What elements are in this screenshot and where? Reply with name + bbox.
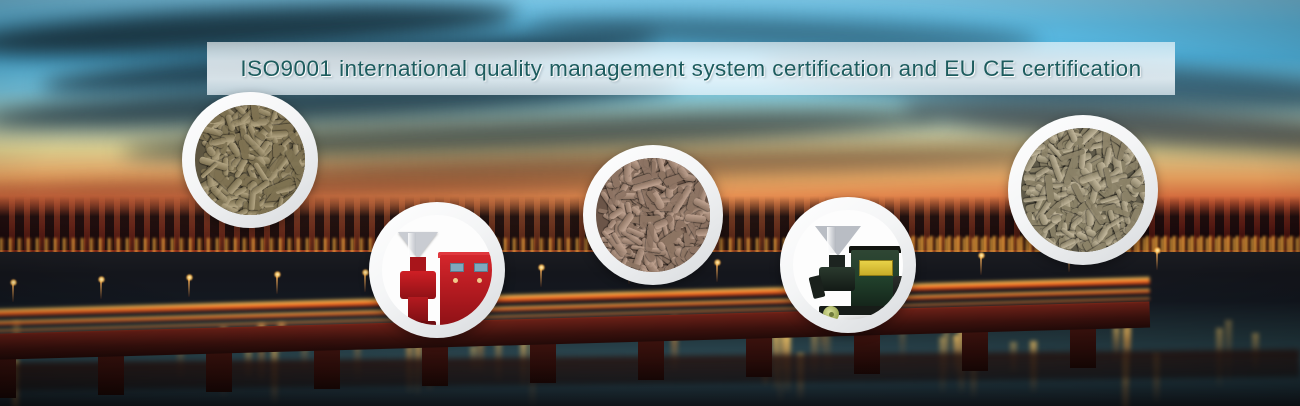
pelletizing-head: [819, 267, 855, 291]
wood-pellet: [300, 210, 305, 215]
product-image: [1021, 128, 1145, 252]
product-image: [596, 158, 710, 272]
mill-body: [400, 271, 436, 299]
hopper-highlight: [827, 227, 836, 253]
product-circle-wood-pellets-closeup-1[interactable]: [182, 92, 318, 228]
product-image: [793, 210, 903, 320]
hopper-highlight: [408, 233, 416, 255]
wheel-hub: [829, 312, 834, 317]
product-circle-green-flat-die-pellet-mill[interactable]: [780, 197, 916, 333]
wood-pellet: [696, 228, 710, 236]
pellet-texture: [195, 105, 305, 215]
feed-hopper: [815, 226, 861, 256]
cabinet-gauge: [450, 263, 464, 272]
mill-stand: [408, 297, 428, 323]
pellet-texture: [1021, 128, 1145, 252]
green-pellet-mill-illustration: [793, 210, 903, 320]
wood-pellet: [640, 212, 648, 228]
cabinet-gauge: [474, 263, 488, 272]
feed-hopper: [398, 232, 438, 258]
spec-label: [859, 260, 893, 276]
promotional-banner: ISO9001 international quality management…: [0, 0, 1300, 406]
headline-plate: ISO9001 international quality management…: [207, 42, 1175, 95]
product-image: [382, 215, 492, 325]
mill-wheel: [404, 321, 415, 325]
cabinet-knob: [477, 278, 482, 283]
mill-body: [851, 250, 899, 308]
wood-pellet: [1041, 129, 1049, 143]
cabinet-knob: [453, 278, 458, 283]
product-circle-red-pellet-mill-with-control-cabinet[interactable]: [369, 202, 505, 338]
headline-text: ISO9001 international quality management…: [240, 56, 1141, 82]
electric-motor: [893, 276, 903, 304]
pellet-texture: [596, 158, 710, 272]
product-circle-wood-pellets-closeup-2[interactable]: [583, 145, 723, 285]
product-circle-wood-pellets-closeup-3[interactable]: [1008, 115, 1158, 265]
product-image: [195, 105, 305, 215]
red-pellet-mill-illustration: [382, 215, 492, 325]
